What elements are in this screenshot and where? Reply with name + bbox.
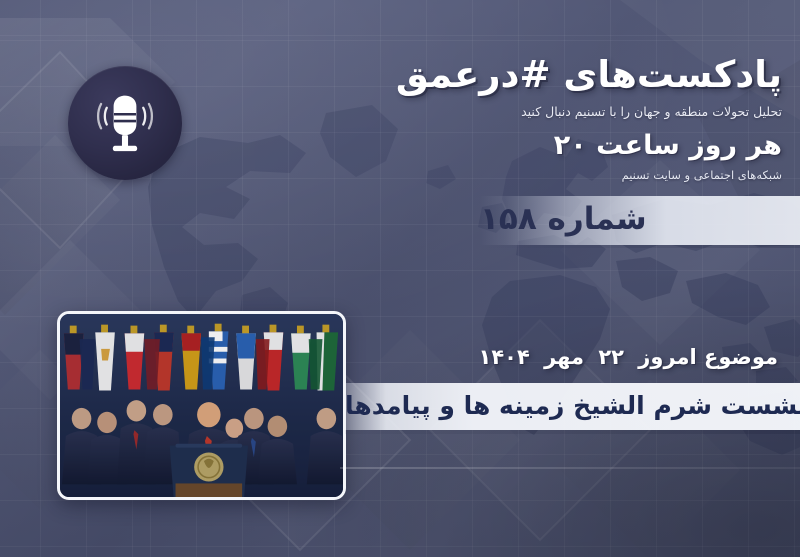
headline-text: نشست شرم الشیخ زمینه ها و پیامدها <box>345 391 800 423</box>
world-leaders-photo <box>60 314 343 497</box>
issue-number-band: شماره ۱۵۸ <box>480 196 800 245</box>
decorative-rule <box>340 467 800 469</box>
poster-title: پادکست‌های #درعمق <box>262 56 782 95</box>
topic-date-line: موضوع امروز ۲۲ مهر ۱۴۰۴ <box>479 345 779 369</box>
headline-band-shadow <box>345 430 800 434</box>
podcast-poster: پادکست‌های #درعمق تحلیل تحولات منطقه و ج… <box>0 0 800 557</box>
branding-text-block: پادکست‌های #درعمق تحلیل تحولات منطقه و ج… <box>262 56 782 182</box>
topic-day: ۲۲ <box>598 345 624 369</box>
leaders-photo-card <box>57 311 346 500</box>
topic-year: ۱۴۰۴ <box>479 345 530 369</box>
microphone-icon <box>87 85 163 161</box>
issue-number-label: شماره ۱۵۸ <box>480 201 663 240</box>
topic-month: مهر <box>544 345 584 369</box>
poster-schedule: هر روز ساعت ۲۰ <box>262 130 782 161</box>
poster-subtitle-tagline: تحلیل تحولات منطقه و جهان را با تسنیم دن… <box>262 104 782 119</box>
issue-band-shadow <box>480 245 800 248</box>
topic-prefix: موضوع امروز <box>638 345 778 369</box>
headline-band: نشست شرم الشیخ زمینه ها و پیامدها <box>345 383 800 430</box>
poster-subtitle-channels: شبکه‌های اجتماعی و سایت تسنیم <box>262 168 782 182</box>
podcast-mic-badge <box>68 66 182 180</box>
